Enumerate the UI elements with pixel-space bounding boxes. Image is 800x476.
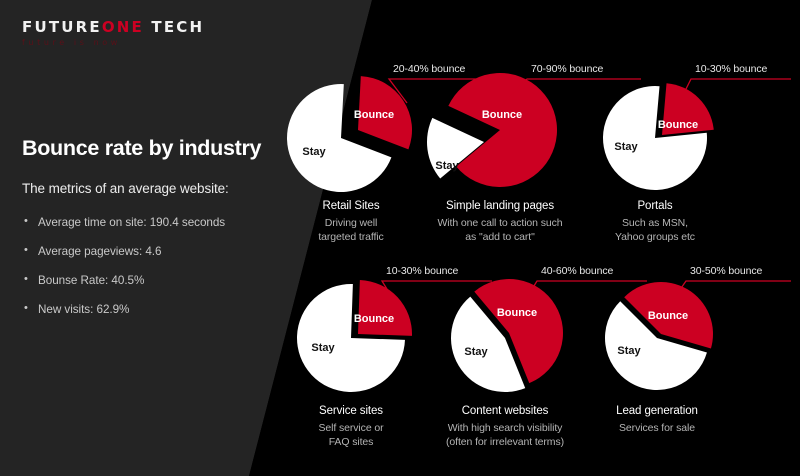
logo-text-one: ONE [102,18,144,36]
slice-label-bounce: Bounce [648,310,688,322]
pie-slice-stay [427,118,484,179]
pie-slice-stay [603,86,707,190]
list-item: New visits: 62.9% [22,303,272,316]
caption-subtitle-line: Yahoo groups etc [570,230,740,244]
callout-label: 70-90% bounce [531,63,603,75]
pie-slice-stay [287,84,391,192]
callout-label: 40-60% bounce [541,265,613,277]
slice-label-bounce: Bounce [354,109,394,121]
pie-slice-bounce [448,73,557,187]
pie-slice-bounce [662,83,714,135]
caption-retail-sites: Retail SitesDriving welltargeted traffic [266,200,436,244]
slice-label-bounce: Bounce [482,109,522,121]
slice-label-stay: Stay [435,160,459,172]
pie-slice-stay [451,297,525,392]
caption-title: Portals [570,200,740,212]
callout-label: 20-40% bounce [393,63,465,75]
callout-label: 10-30% bounce [386,265,458,277]
caption-subtitle: Driving welltargeted traffic [266,216,436,244]
logo-wordmark: FUTUREONE TECH [22,20,204,35]
caption-subtitle: With one call to action suchas "add to c… [415,216,585,244]
pie-slice-bounce [358,76,412,149]
caption-subtitle-line: Driving well [266,216,436,230]
caption-title: Retail Sites [266,200,436,212]
callout-label: 10-30% bounce [695,63,767,75]
caption-subtitle-line: With high search visibility [420,421,590,435]
caption-subtitle-line: as "add to cart" [415,230,585,244]
pie-slice-stay [605,301,707,390]
list-item: Bounse Rate: 40.5% [22,274,272,287]
list-item: Average pageviews: 4.6 [22,245,272,258]
caption-subtitle-line: (often for irrelevant terms) [420,435,590,449]
caption-subtitle: Services for sale [572,421,742,435]
caption-title: Content websites [420,405,590,417]
caption-subtitle-line: Services for sale [572,421,742,435]
caption-title: Service sites [266,405,436,417]
page-subtitle: The metrics of an average website: [22,181,272,196]
caption-subtitle-line: FAQ sites [266,435,436,449]
slice-label-stay: Stay [311,342,335,354]
metrics-list: Average time on site: 190.4 seconds Aver… [22,216,272,316]
caption-subtitle-line: Such as MSN, [570,216,740,230]
page-title: Bounce rate by industry [22,136,272,161]
caption-subtitle: With high search visibility(often for ir… [420,421,590,449]
callout-label: 30-50% bounce [690,265,762,277]
logo-text-future: FUTURE [22,18,102,36]
left-info-panel: Bounce rate by industry The metrics of a… [22,136,272,332]
slice-label-bounce: Bounce [354,313,394,325]
caption-title: Lead generation [572,405,742,417]
pie-slice-bounce [474,279,563,383]
slice-label-bounce: Bounce [497,307,537,319]
caption-lead-generation: Lead generationServices for sale [572,405,742,435]
pie-slice-bounce [358,280,412,336]
slice-label-stay: Stay [302,146,326,158]
slice-label-stay: Stay [614,141,638,153]
caption-simple-landing-pages: Simple landing pagesWith one call to act… [415,200,585,244]
logo-tagline: future is now [22,39,204,47]
slice-label-stay: Stay [464,346,488,358]
caption-service-sites: Service sitesSelf service orFAQ sites [266,405,436,449]
caption-subtitle-line: targeted traffic [266,230,436,244]
caption-content-websites: Content websitesWith high search visibil… [420,405,590,449]
caption-subtitle: Such as MSN,Yahoo groups etc [570,216,740,244]
caption-subtitle-line: Self service or [266,421,436,435]
list-item: Average time on site: 190.4 seconds [22,216,272,229]
pie-slice-bounce [624,282,713,349]
logo-text-tech: TECH [144,18,204,36]
slice-label-bounce: Bounce [658,119,698,131]
slice-label-stay: Stay [617,345,641,357]
brand-logo: FUTUREONE TECH future is now [22,20,204,47]
caption-portals: PortalsSuch as MSN,Yahoo groups etc [570,200,740,244]
pie-slice-stay [297,284,405,392]
caption-subtitle: Self service orFAQ sites [266,421,436,449]
caption-title: Simple landing pages [415,200,585,212]
caption-subtitle-line: With one call to action such [415,216,585,230]
